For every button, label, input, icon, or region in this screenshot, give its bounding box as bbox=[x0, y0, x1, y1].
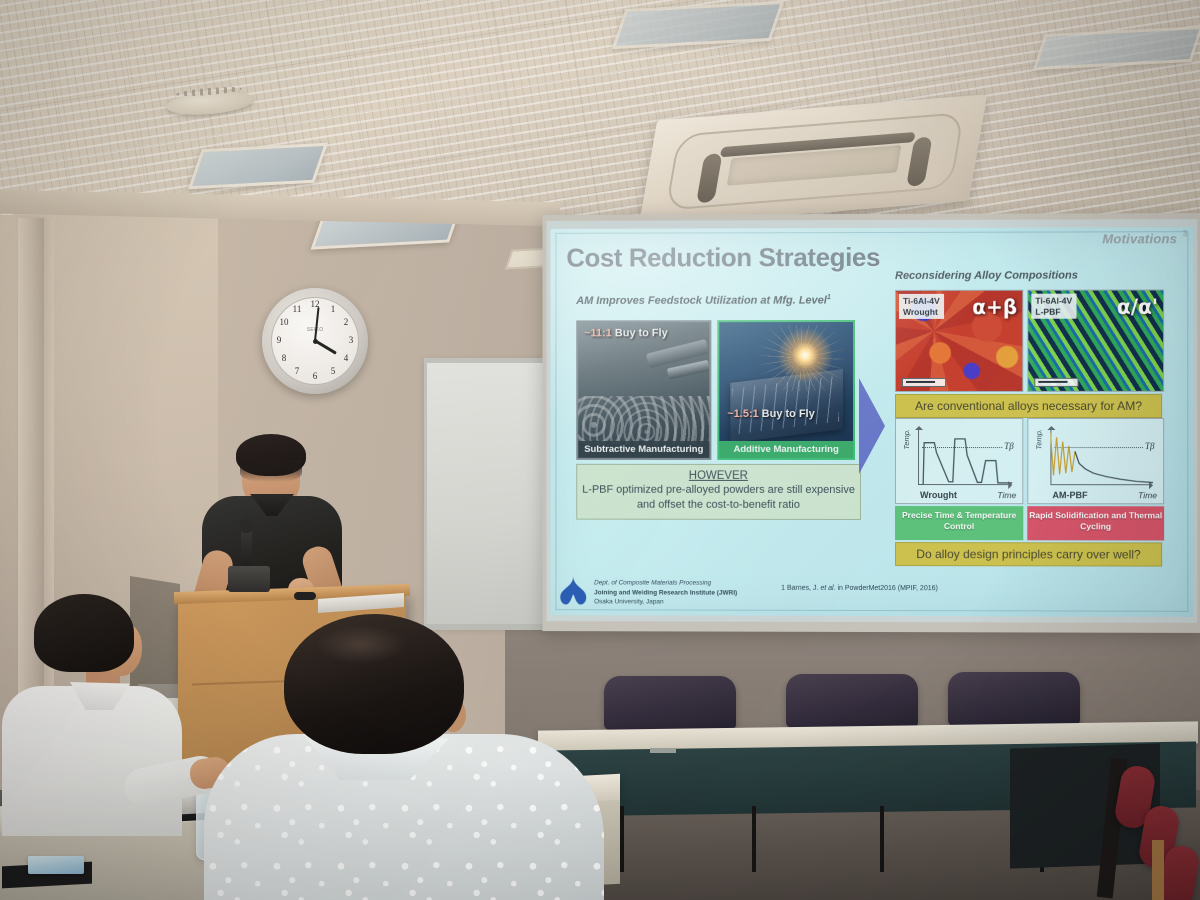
table-leg bbox=[752, 806, 756, 872]
however-body: L-PBF optimized pre-alloyed powders are … bbox=[581, 483, 856, 513]
audience-hair bbox=[34, 594, 134, 672]
slide-number: 3 bbox=[1183, 229, 1187, 238]
citation-rest: in PowderMet2016 (MPIF, 2016) bbox=[836, 585, 938, 592]
clock-numeral: 7 bbox=[290, 366, 304, 376]
buy-to-fly-subtractive: ~11:1 Buy to Fly bbox=[584, 327, 667, 339]
alloy-name: Ti-6Al-4V bbox=[1035, 296, 1072, 307]
ac-frame bbox=[665, 112, 964, 211]
clock-numeral: 5 bbox=[326, 366, 340, 376]
table-leg bbox=[880, 806, 884, 872]
clock-center-pin bbox=[313, 339, 318, 344]
clock-hour-hand bbox=[314, 340, 336, 355]
buy-to-fly-ratio: ~1.5:1 bbox=[727, 408, 758, 420]
alloy-name: Ti-6Al-4V bbox=[903, 296, 940, 307]
status-rapid-solidification: Rapid Solidification and Thermal Cycling bbox=[1027, 506, 1164, 540]
buy-to-fly-suffix: Buy to Fly bbox=[612, 327, 668, 339]
photo-subtractive-manufacturing: ~11:1 Buy to Fly Subtractive Manufacturi… bbox=[576, 320, 711, 460]
presentation-remote bbox=[294, 592, 316, 600]
metal-chips-texture bbox=[578, 396, 709, 444]
projection-screen: Motivations 3 Cost Reduction Strategies … bbox=[543, 213, 1200, 633]
buy-to-fly-ratio: ~11:1 bbox=[584, 327, 612, 339]
phase-label-alpha-beta: α+β bbox=[972, 295, 1017, 319]
ceiling-light-panel bbox=[188, 143, 328, 189]
buy-to-fly-additive: ~1.5:1 Buy to Fly bbox=[727, 408, 814, 420]
plot-process-label: AM-PBF bbox=[1052, 490, 1087, 500]
thermal-curve-wrought bbox=[918, 427, 1012, 485]
citation-author: Barnes, J. bbox=[787, 585, 820, 592]
left-heading-text: AM Improves Feedstock Utilization at Mfg… bbox=[576, 295, 827, 307]
small-box-item bbox=[28, 856, 84, 874]
clock-numeral: 6 bbox=[308, 371, 322, 381]
phase-label-alpha-alpha-prime: α/α' bbox=[1117, 294, 1158, 318]
screen-surface: Motivations 3 Cost Reduction Strategies … bbox=[547, 219, 1198, 623]
presenter-hair bbox=[236, 434, 306, 476]
clock-face: SEIKO 12 1 2 3 4 5 6 7 8 9 10 11 bbox=[271, 297, 359, 385]
audience-member-foreground bbox=[204, 614, 614, 900]
thermal-plot-wrought: Temp. Tβ Wrought Time bbox=[895, 418, 1023, 504]
seminar-room-photo: SEIKO 12 1 2 3 4 5 6 7 8 9 10 11 Motivat… bbox=[0, 0, 1200, 900]
clock-numeral: 12 bbox=[308, 299, 322, 309]
plot-x-axis-label: Time bbox=[997, 490, 1016, 500]
plot-y-axis-label: Temp. bbox=[1034, 429, 1043, 450]
clock-numeral: 8 bbox=[277, 353, 291, 363]
question-banner-1: Are conventional alloys necessary for AM… bbox=[895, 394, 1162, 418]
footer-line-3: Osaka University, Japan bbox=[594, 598, 737, 608]
table-leg bbox=[620, 806, 624, 872]
footer-line-2: Joining and Welding Research Institute (… bbox=[594, 588, 737, 598]
process-name: Wrought bbox=[903, 307, 940, 318]
audience-member-seated-left bbox=[12, 594, 202, 834]
clock-numeral: 3 bbox=[344, 335, 358, 345]
plot-y-axis-label: Temp. bbox=[902, 429, 911, 450]
microphone bbox=[241, 524, 252, 572]
however-callout-box: HOWEVER L-PBF optimized pre-alloyed powd… bbox=[576, 464, 861, 520]
slide-section-label: Motivations bbox=[1102, 231, 1177, 246]
clock-minute-hand bbox=[314, 307, 320, 341]
jwri-logo-icon bbox=[558, 575, 588, 607]
micrograph-wrought-label: Ti-6Al-4V Wrought bbox=[899, 294, 944, 319]
table-bracket bbox=[650, 748, 676, 753]
micrograph-lpbf: Ti-6Al-4V L-PBF α/α' bbox=[1027, 289, 1164, 391]
scale-bar bbox=[1034, 378, 1078, 387]
right-arrow-icon bbox=[859, 378, 885, 474]
machining-tool-shape bbox=[667, 360, 710, 379]
micrograph-wrought: Ti-6Al-4V Wrought α+β bbox=[895, 290, 1023, 392]
left-heading-superscript: 1 bbox=[827, 294, 831, 301]
slide-title: Cost Reduction Strategies bbox=[566, 242, 880, 274]
footer-line-1: Dept. of Composite Materials Processing bbox=[594, 578, 737, 588]
clock-numeral: 1 bbox=[326, 304, 340, 314]
photo-additive-manufacturing: ~1.5:1 Buy to Fly Additive Manufacturing bbox=[717, 320, 855, 460]
however-title: HOWEVER bbox=[581, 470, 856, 482]
whiteboard bbox=[424, 358, 558, 628]
ac-vent-right bbox=[906, 137, 932, 187]
scale-bar bbox=[902, 378, 946, 387]
question-banner-2: Do alloy design principles carry over we… bbox=[895, 542, 1162, 567]
chair bbox=[948, 672, 1080, 726]
chair bbox=[604, 676, 736, 730]
audience-hair bbox=[284, 614, 464, 754]
thermal-plot-am-pbf: Temp. Tβ AM-PBF Time bbox=[1027, 418, 1164, 504]
thermal-curve-am-pbf bbox=[1050, 427, 1153, 485]
left-column-heading: AM Improves Feedstock Utilization at Mfg… bbox=[576, 294, 831, 307]
table-leg-wood bbox=[1152, 840, 1164, 900]
laser-spark-core bbox=[770, 327, 840, 383]
clock-numeral: 10 bbox=[277, 317, 291, 327]
plot-process-label: Wrought bbox=[920, 490, 957, 500]
microphone-base bbox=[228, 566, 270, 592]
chair bbox=[786, 674, 918, 728]
caption-additive: Additive Manufacturing bbox=[719, 441, 853, 458]
status-precise-control: Precise Time & Temperature Control bbox=[895, 506, 1023, 540]
clock-numeral: 11 bbox=[290, 304, 304, 314]
plot-x-axis-label: Time bbox=[1138, 490, 1157, 500]
clock-numeral: 4 bbox=[339, 353, 353, 363]
micrograph-lpbf-label: Ti-6Al-4V L-PBF bbox=[1031, 294, 1076, 319]
wall-clock: SEIKO 12 1 2 3 4 5 6 7 8 9 10 11 bbox=[262, 288, 368, 394]
process-name: L-PBF bbox=[1035, 306, 1072, 317]
caption-subtractive: Subtractive Manufacturing bbox=[578, 441, 709, 458]
ac-vent-left bbox=[696, 153, 722, 203]
presentation-slide: Motivations 3 Cost Reduction Strategies … bbox=[550, 227, 1193, 617]
citation-etal: et al. bbox=[820, 585, 835, 592]
slide-citation: 1 Barnes, J. et al. in PowderMet2016 (MP… bbox=[781, 585, 938, 592]
clock-numeral: 2 bbox=[339, 317, 353, 327]
right-column-heading: Reconsidering Alloy Compositions bbox=[895, 270, 1078, 282]
buy-to-fly-suffix: Buy to Fly bbox=[759, 408, 815, 420]
clock-numeral: 9 bbox=[272, 335, 286, 345]
slide-footer-org: Dept. of Composite Materials Processing … bbox=[594, 578, 737, 608]
